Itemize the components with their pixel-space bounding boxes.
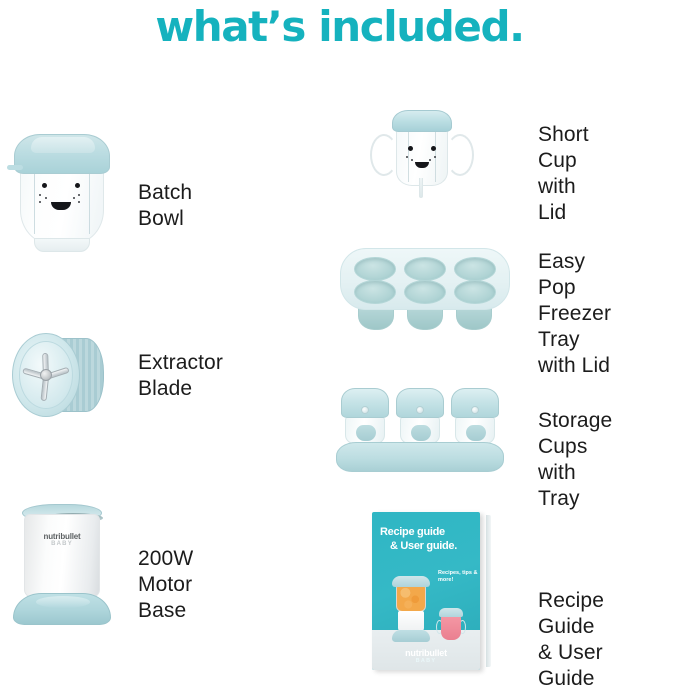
motor-base-brand-sub: BABY — [12, 541, 112, 547]
freckle-icon — [78, 194, 80, 196]
booklet-cover: Recipe guide & User guide. Recipes, tips… — [372, 512, 480, 670]
batch-bowl-lid-top — [31, 137, 95, 153]
freckle-icon — [78, 201, 80, 203]
booklet-title-line2: & User guide. — [390, 540, 476, 552]
whats-included-infographic: what’s included. Batch Bowl — [0, 0, 679, 688]
motor-base-brand: nutribullet BABY — [12, 532, 112, 547]
freckle-icon — [406, 156, 408, 158]
short-cup-illustration — [368, 108, 476, 200]
storage-cup-jar — [400, 416, 440, 444]
freckle-icon — [73, 197, 75, 199]
batch-bowl-lid-tab — [7, 165, 23, 170]
batch-bowl-illustration — [14, 118, 110, 253]
freckle-icon — [429, 159, 431, 161]
storage-cup-contents — [356, 425, 376, 441]
booklet-brand-name: nutribullet — [405, 648, 447, 658]
batch-bowl-lid — [14, 134, 110, 174]
booklet-blender-lid — [392, 576, 430, 587]
motor-base-body — [24, 514, 100, 600]
recipe-guide-illustration: Recipe guide & User guide. Recipes, tips… — [372, 512, 486, 672]
booklet-pink-cup-lid — [439, 608, 463, 617]
freckle-icon — [411, 159, 413, 161]
page-title: what’s included. — [0, 2, 679, 51]
item-label-short-cup: Short Cup with Lid — [538, 122, 589, 226]
eye-right-icon — [75, 183, 80, 188]
storage-cup-button — [361, 406, 369, 414]
booklet-blender-photo — [390, 572, 432, 642]
short-cup-body — [396, 124, 448, 186]
booklet-blender-foot — [392, 630, 430, 642]
freckle-icon — [434, 156, 436, 158]
freezer-tray-well — [354, 257, 396, 281]
booklet-title-line1: Recipe guide — [380, 526, 472, 539]
booklet-brand-sub: BABY — [372, 658, 480, 664]
freezer-tray-well — [454, 257, 496, 281]
eye-right-icon — [431, 146, 436, 151]
booklet-note: Recipes, tips & more! — [438, 570, 478, 584]
storage-cup-button — [471, 406, 479, 414]
freckle-icon — [39, 194, 41, 196]
booklet-page-edge — [486, 515, 491, 667]
freezer-tray-well — [404, 257, 446, 281]
item-label-motor-base: 200W Motor Base — [138, 546, 193, 624]
short-cup-spout — [419, 178, 423, 198]
batch-bowl-foot — [34, 238, 90, 252]
short-cup-handle-left — [370, 134, 398, 176]
item-label-freezer-tray: Easy Pop Freezer Tray with Lid — [538, 249, 611, 379]
storage-cups-illustration — [336, 388, 504, 474]
booklet-pink-cup-body — [441, 614, 461, 640]
booklet-brand: nutribullet BABY — [372, 648, 480, 664]
storage-cup-contents — [411, 425, 431, 441]
extractor-blade-illustration — [12, 333, 112, 419]
item-label-recipe-guide: Recipe Guide & User Guide — [538, 588, 604, 688]
freckle-icon — [39, 201, 41, 203]
booklet-blender-base — [398, 611, 424, 632]
freezer-tray-well — [454, 280, 496, 304]
eye-left-icon — [42, 183, 47, 188]
booklet-blender-cup — [396, 584, 426, 612]
motor-base-foot — [13, 593, 111, 625]
storage-cup-jar — [345, 416, 385, 444]
short-cup-lid — [392, 110, 452, 132]
freckle-icon — [45, 197, 47, 199]
item-label-batch-bowl: Batch Bowl — [138, 180, 192, 232]
extractor-blade-hub — [40, 369, 52, 381]
motor-base-illustration: nutribullet BABY — [12, 500, 112, 625]
motor-base-brand-name: nutribullet — [44, 532, 81, 541]
freezer-tray-well — [354, 280, 396, 304]
storage-cup-button — [416, 406, 424, 414]
item-label-storage-cups: Storage Cups with Tray — [538, 408, 612, 512]
short-cup-handle-right — [446, 134, 474, 176]
item-label-extractor-blade: Extractor Blade — [138, 350, 223, 402]
storage-cups-tray — [336, 442, 504, 472]
storage-cup-jar — [455, 416, 495, 444]
eye-left-icon — [408, 146, 413, 151]
booklet-pink-cup — [438, 606, 464, 642]
freezer-tray-illustration — [340, 248, 510, 330]
freezer-tray-well — [404, 280, 446, 304]
storage-cup-contents — [466, 425, 486, 441]
